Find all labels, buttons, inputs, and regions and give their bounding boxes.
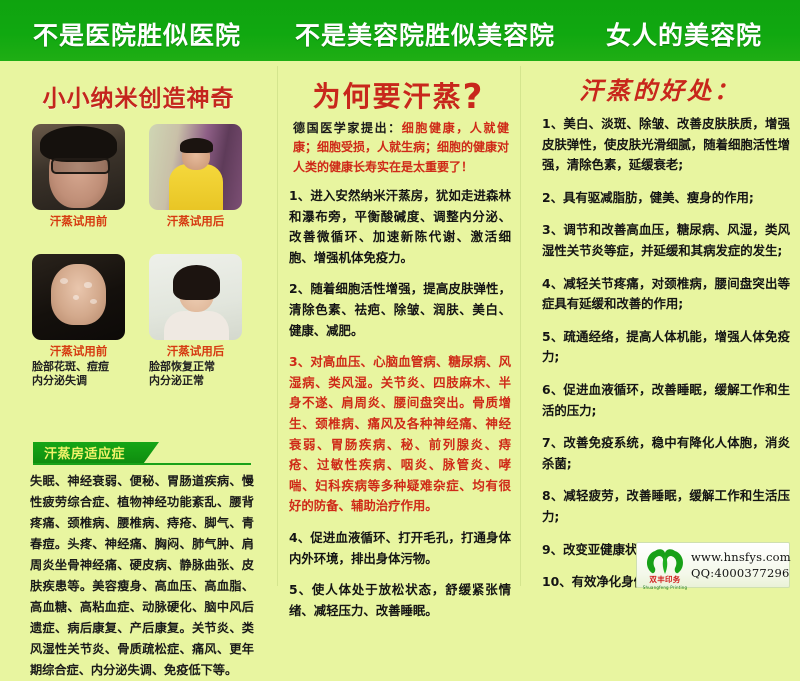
indications-banner-label: 汗蒸房适应症: [44, 443, 125, 462]
benefit-item-5: 5、疏通经络，提高人体机能，增强人体免疫力;: [542, 327, 790, 368]
benefit-item-1: 1、美白、淡斑、除皱、改善皮肤肤质，增强皮肤弹性，使皮肤光滑细腻，随着细胞活性增…: [542, 114, 790, 176]
benefits-list: 1、美白、淡斑、除皱、改善皮肤肤质，增强皮肤弹性，使皮肤光滑细腻，随着细胞活性增…: [542, 114, 790, 605]
photo-after-2: [149, 254, 242, 340]
photo-row-1: 汗蒸试用前 汗蒸试用后: [32, 124, 246, 246]
photo-subcaption-after-2: 脸部恢复正常 内分泌正常: [149, 360, 242, 388]
header-title-2: 不是美容院胜似美容院: [295, 16, 555, 52]
indications-underline: [33, 463, 251, 465]
benefit-item-4: 4、减轻关节疼痛，对颈椎病，腰间盘突出等症具有延缓和改善的作用;: [542, 274, 790, 315]
footer-contact-block: www.hnsfys.com QQ:4000377296: [688, 550, 791, 580]
middle-column-title: 为何要汗蒸?: [277, 75, 520, 117]
logo-company-name-en: Shuangfeng Printing: [642, 585, 688, 590]
photo-cell-after-2: 汗蒸试用后 脸部恢复正常 内分泌正常: [149, 254, 242, 388]
header-title-1: 不是医院胜似医院: [33, 16, 241, 52]
benefit-item-3: 3、调节和改善高血压，糖尿病、风湿，类风湿性关节炎等症，并延缓和其病发症的发生;: [542, 220, 790, 261]
benefit-item-7: 7、改善免疫系统，稳中有降化人体胞，消炎杀菌;: [542, 433, 790, 474]
photo-after-1: [149, 124, 242, 210]
column-middle: 为何要汗蒸? 德国医学家提出：细胞健康，人就健康；细胞受损，人就生病；细胞的健康…: [277, 61, 520, 592]
indications-body-text: 失眠、神经衰弱、便秘、胃肠道疾病、慢性疲劳综合症、植物神经功能紊乱、腰背疼痛、颈…: [30, 471, 254, 681]
photo-caption-after-2: 汗蒸试用后: [149, 343, 242, 359]
middle-lead-paragraph: 德国医学家提出：细胞健康，人就健康；细胞受损，人就生病；细胞的健康对人类的健康长…: [293, 119, 509, 177]
column-left: 小小纳米创造神奇 汗蒸试用前 汗蒸试用后: [0, 61, 277, 592]
middle-item-4: 4、促进血液循环、打开毛孔，打通身体内外环境，排出身体污物。: [289, 528, 511, 569]
footer-website[interactable]: www.hnsfys.com: [691, 550, 791, 564]
footer-qq: QQ:4000377296: [691, 566, 791, 580]
photo-caption-after-1: 汗蒸试用后: [149, 213, 242, 229]
tree-icon-svg: [644, 547, 686, 575]
indications-banner: 汗蒸房适应症: [33, 442, 159, 463]
photo-before-2: [32, 254, 125, 340]
middle-title-text: 为何要汗蒸: [313, 80, 463, 113]
column-right: 汗蒸的好处： 1、美白、淡斑、除皱、改善皮肤肤质，增强皮肤弹性，使皮肤光滑细腻，…: [520, 61, 800, 592]
middle-item-3: 3、对高血压、心脑血管病、糖尿病、风湿病、类风湿。关节炎、四肢麻木、半身不遂、肩…: [289, 352, 511, 517]
photo-caption-before-1: 汗蒸试用前: [32, 213, 125, 229]
left-column-title: 小小纳米创造神奇: [0, 79, 277, 113]
middle-lead-prefix: 德国医学家提出：: [293, 121, 402, 135]
photo-cell-before-1: 汗蒸试用前: [32, 124, 125, 229]
photo-row-2: 汗蒸试用前 脸部花斑、痘痘 内分泌失调 汗蒸试用后 脸部恢复正常 内分泌正常: [32, 254, 246, 394]
right-column-title: 汗蒸的好处：: [520, 71, 800, 106]
benefit-item-6: 6、促进血液循环，改善睡眠，缓解工作和生活的压力;: [542, 380, 790, 421]
middle-item-5: 5、使人体处于放松状态，舒缓紧张情绪、减轻压力、改善睡眠。: [289, 580, 511, 621]
photo-cell-before-2: 汗蒸试用前 脸部花斑、痘痘 内分泌失调: [32, 254, 125, 388]
benefit-item-2: 2、具有驱减脂肪，健美、瘦身的作用;: [542, 188, 790, 209]
photo-before-1: [32, 124, 125, 210]
photo-cell-after-1: 汗蒸试用后: [149, 124, 242, 229]
photo-subcaption-before-2: 脸部花斑、痘痘 内分泌失调: [32, 360, 125, 388]
tree-logo-icon: 双丰印务 Shuangfeng Printing: [640, 545, 688, 585]
header-band: 不是医院胜似医院 不是美容院胜似美容院 女人的美容院: [0, 0, 800, 61]
poster-canvas: 不是医院胜似医院 不是美容院胜似美容院 女人的美容院 小小纳米创造神奇 汗蒸试用…: [0, 0, 800, 592]
middle-item-2: 2、随着细胞活性增强，提高皮肤弹性，清除色素、祛疤、除皱、润肤、美白、健康、减肥…: [289, 279, 511, 341]
middle-body-list: 1、进入安然纳米汗蒸房，犹如走进森林和瀑布旁，平衡酸碱度、调整内分泌、改善微循环…: [289, 186, 511, 632]
photo-caption-before-2: 汗蒸试用前: [32, 343, 125, 359]
header-title-3: 女人的美容院: [606, 16, 762, 52]
question-mark-icon: ?: [463, 77, 485, 117]
middle-item-1: 1、进入安然纳米汗蒸房，犹如走进森林和瀑布旁，平衡酸碱度、调整内分泌、改善微循环…: [289, 186, 511, 268]
benefit-item-8: 8、减轻疲劳，改善睡眠，缓解工作和生活压力;: [542, 486, 790, 527]
logo-company-name-cn: 双丰印务: [642, 576, 688, 584]
before-after-photo-grid: 汗蒸试用前 汗蒸试用后: [32, 124, 246, 402]
footer-logo-card: 双丰印务 Shuangfeng Printing www.hnsfys.com …: [636, 542, 790, 588]
